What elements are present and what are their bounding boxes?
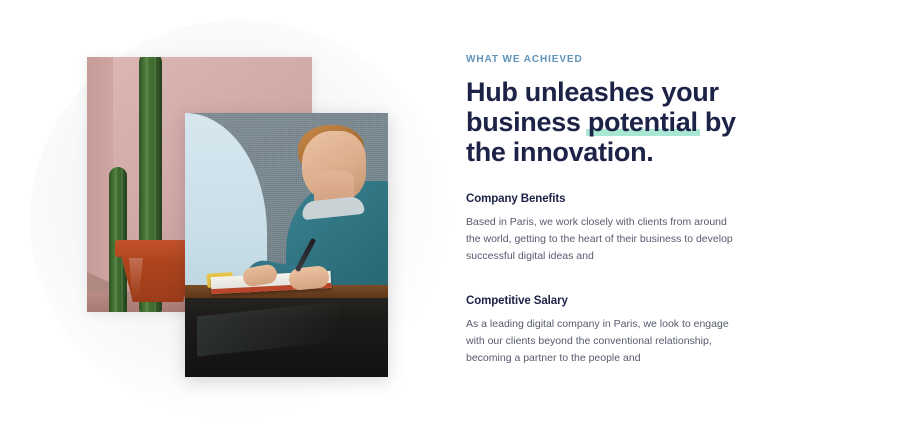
desk-reflection bbox=[197, 302, 339, 357]
man-writing-at-desk-photo bbox=[185, 113, 388, 377]
headline-highlighted-word: potential bbox=[588, 107, 698, 137]
block-title: Company Benefits bbox=[466, 193, 766, 205]
block-body: As a leading digital company in Paris, w… bbox=[466, 316, 738, 367]
block-title: Competitive Salary bbox=[466, 295, 766, 307]
promo-section: WHAT WE ACHIEVED Hub unleashes your busi… bbox=[0, 0, 900, 429]
copy-column: WHAT WE ACHIEVED Hub unleashes your busi… bbox=[466, 54, 766, 367]
benefit-block-competitive-salary: Competitive Salary As a leading digital … bbox=[466, 295, 766, 367]
desk bbox=[185, 285, 388, 377]
photo-collage bbox=[0, 0, 450, 429]
block-body: Based in Paris, we work closely with cli… bbox=[466, 214, 738, 265]
page-title: Hub unleashes your business potential by… bbox=[466, 77, 766, 167]
eyebrow-label: WHAT WE ACHIEVED bbox=[466, 54, 766, 65]
benefit-block-company-benefits: Company Benefits Based in Paris, we work… bbox=[466, 193, 766, 265]
